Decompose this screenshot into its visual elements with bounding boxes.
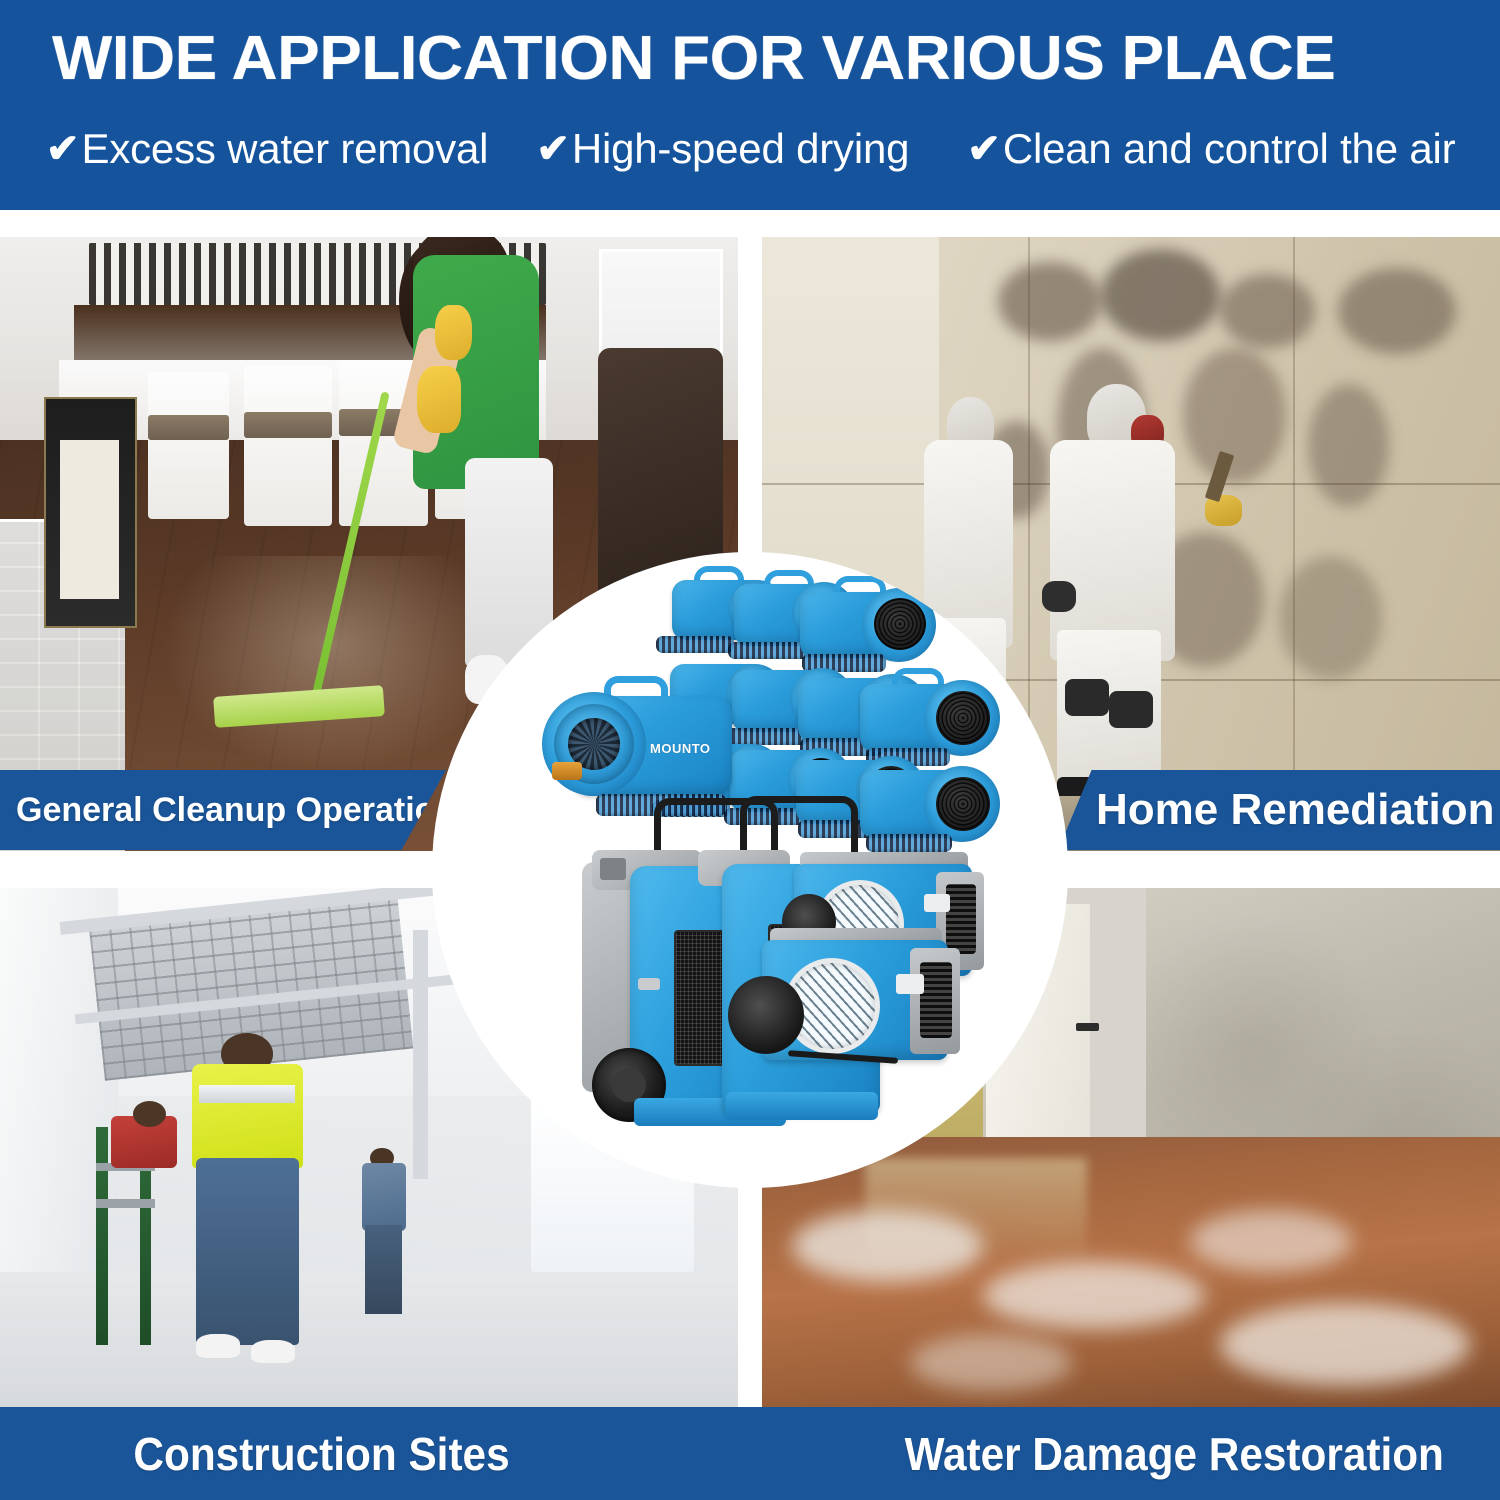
page-title: WIDE APPLICATION FOR VARIOUS PLACE — [52, 26, 1335, 91]
feature-bullet-1-label: Excess water removal — [82, 125, 489, 173]
panel-label-text: General Cleanup Operations — [16, 791, 475, 830]
panel-label-construction-sites: Construction Sites — [0, 1407, 812, 1500]
feature-bullet-3-label: Clean and control the air — [1003, 125, 1456, 173]
header-banner: WIDE APPLICATION FOR VARIOUS PLACE ✔ Exc… — [0, 0, 1500, 210]
feature-bullet-2-label: High-speed drying — [572, 125, 909, 173]
check-icon: ✔ — [46, 129, 80, 169]
panel-label-water-damage: Water Damage Restoration — [762, 1407, 1500, 1500]
feature-bullet-2: ✔ High-speed drying — [536, 125, 909, 173]
product-showcase-circle: MOUNTO — [432, 552, 1068, 1188]
panel-label-home-remediation: Home Remediation — [1058, 770, 1500, 850]
check-icon: ✔ — [536, 129, 570, 169]
feature-bullet-3: ✔ Clean and control the air — [967, 125, 1455, 173]
infographic-page: WIDE APPLICATION FOR VARIOUS PLACE ✔ Exc… — [0, 0, 1500, 1500]
check-icon: ✔ — [967, 129, 1001, 169]
panel-label-text: Home Remediation — [1096, 785, 1495, 835]
feature-bullet-list: ✔ Excess water removal ✔ High-speed dryi… — [44, 118, 1464, 180]
panel-label-general-cleanup: General Cleanup Operations — [0, 770, 446, 850]
brand-logo: MOUNTO — [650, 742, 711, 755]
panel-label-text: Water Damage Restoration — [905, 1427, 1444, 1481]
panel-label-text: Construction Sites — [133, 1427, 509, 1481]
feature-bullet-1: ✔ Excess water removal — [46, 125, 488, 173]
